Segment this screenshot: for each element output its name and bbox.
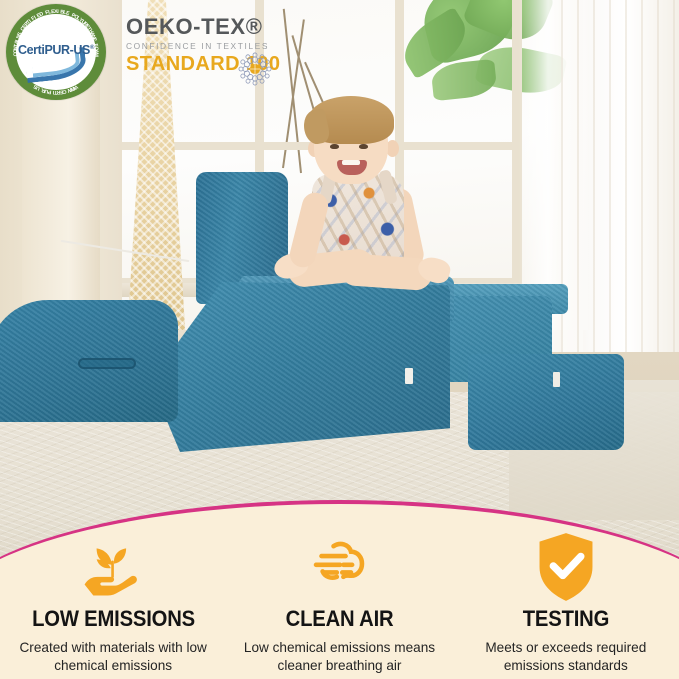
oeko-tex-badge: OEKO-TEX® CONFIDENCE IN TEXTILES STANDAR…	[126, 16, 306, 82]
child-teeth	[342, 160, 360, 165]
shield-check-icon	[532, 530, 600, 604]
certipur-trademark: ®	[90, 45, 94, 51]
feature-description: Low chemical emissions means cleaner bre…	[232, 639, 446, 675]
feature-list: LOW EMISSIONS Created with materials wit…	[0, 530, 679, 679]
brand-tag	[553, 372, 560, 387]
benefits-banner: LOW EMISSIONS Created with materials wit…	[0, 500, 679, 679]
feature-description: Meets or exceeds required emissions stan…	[459, 639, 673, 675]
hand-holding-plant-icon	[78, 530, 148, 604]
foam-step-lower	[468, 354, 624, 450]
clean-air-cloud-icon	[304, 530, 374, 604]
feature-low-emissions: LOW EMISSIONS Created with materials wit…	[0, 530, 226, 679]
feature-title: CLEAN AIR	[286, 606, 394, 632]
oeko-tex-tagline: CONFIDENCE IN TEXTILES	[126, 41, 306, 51]
product-infographic: CONTAINS CERTIFIED FLEXIBLE POLYURETHANE…	[0, 0, 679, 679]
certipur-inner-disc: CertiPUR-US®	[16, 14, 96, 90]
child-figure	[282, 96, 452, 296]
feature-title: LOW EMISSIONS	[32, 606, 195, 632]
child-eye	[330, 144, 339, 149]
feature-description: Created with materials with low chemical…	[6, 639, 220, 675]
oeko-tex-standard: STANDARD 100	[126, 54, 306, 74]
oeko-tex-emblem-icon	[238, 52, 272, 86]
certipur-name-text: CertiPUR-US	[18, 43, 90, 57]
foam-handle	[78, 358, 136, 369]
feature-clean-air: CLEAN AIR Low chemical emissions means c…	[226, 530, 452, 679]
feature-title: TESTING	[523, 606, 609, 632]
certipur-wordmark: CertiPUR-US®	[18, 43, 94, 57]
feature-testing: TESTING Meets or exceeds required emissi…	[453, 530, 679, 679]
oeko-tex-brand: OEKO-TEX®	[126, 16, 306, 38]
certipur-seal-icon: CONTAINS CERTIFIED FLEXIBLE POLYURETHANE…	[6, 4, 106, 100]
brand-tag	[405, 368, 413, 384]
child-eye	[359, 144, 368, 149]
